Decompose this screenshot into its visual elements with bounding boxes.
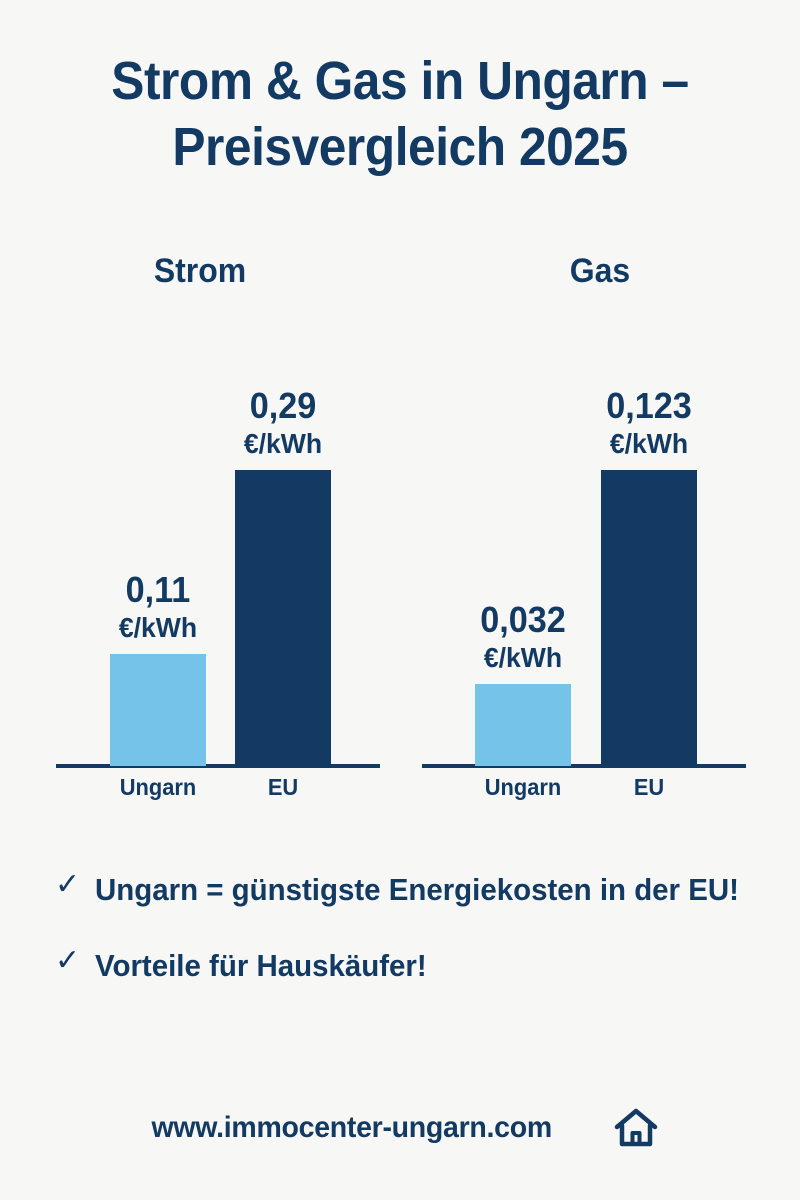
baseline-axis: [422, 764, 746, 768]
baseline-axis: [56, 764, 380, 768]
value-label-gas-ungarn: 0,032 €/kWh: [443, 602, 603, 672]
plot-area-strom: 0,11 €/kWh 0,29 €/kWh: [0, 240, 400, 766]
list-item-label: Ungarn = günstigste Energiekosten in der…: [95, 865, 739, 915]
bar-strom-ungarn: [110, 654, 206, 766]
chart-panel-strom: Strom 0,11 €/kWh 0,29 €/kWh Ungarn EU: [0, 240, 400, 820]
value-label-strom-ungarn: 0,11 €/kWh: [78, 572, 238, 642]
benefits-list: ✓ Ungarn = günstigste Energiekosten in d…: [55, 865, 775, 1017]
check-icon: ✓: [55, 865, 95, 905]
value-number: 0,123: [573, 388, 725, 424]
bar-gas-eu: [601, 470, 697, 766]
house-icon: [613, 1106, 659, 1150]
value-number: 0,29: [207, 388, 359, 424]
value-unit: €/kWh: [447, 644, 599, 672]
value-unit: €/kWh: [573, 430, 725, 458]
list-item: ✓ Vorteile für Hauskäufer!: [55, 941, 775, 991]
page-title-line-2: Preisvergleich 2025: [32, 114, 768, 180]
value-number: 0,032: [447, 602, 599, 638]
page-title-line-1: Strom & Gas in Ungarn –: [32, 48, 768, 114]
website-url[interactable]: www.immocenter-ungarn.com: [152, 1111, 552, 1145]
value-unit: €/kWh: [207, 430, 359, 458]
plot-area-gas: 0,032 €/kWh 0,123 €/kWh: [400, 240, 800, 766]
chart-panel-gas: Gas 0,032 €/kWh 0,123 €/kWh Ungarn EU: [400, 240, 800, 820]
category-label-strom-eu: EU: [207, 774, 359, 801]
value-label-strom-eu: 0,29 €/kWh: [203, 388, 363, 458]
value-number: 0,11: [82, 572, 234, 608]
bar-gas-ungarn: [475, 684, 571, 766]
category-label-gas-eu: EU: [573, 774, 725, 801]
value-unit: €/kWh: [82, 614, 234, 642]
charts-container: Strom 0,11 €/kWh 0,29 €/kWh Ungarn EU Ga…: [0, 240, 800, 820]
page-title: Strom & Gas in Ungarn – Preisvergleich 2…: [32, 48, 768, 180]
value-label-gas-eu: 0,123 €/kWh: [569, 388, 729, 458]
bar-strom-eu: [235, 470, 331, 766]
check-icon: ✓: [55, 941, 95, 981]
list-item-label: Vorteile für Hauskäufer!: [95, 941, 427, 991]
footer: www.immocenter-ungarn.com: [0, 1106, 800, 1150]
list-item: ✓ Ungarn = günstigste Energiekosten in d…: [55, 865, 775, 915]
